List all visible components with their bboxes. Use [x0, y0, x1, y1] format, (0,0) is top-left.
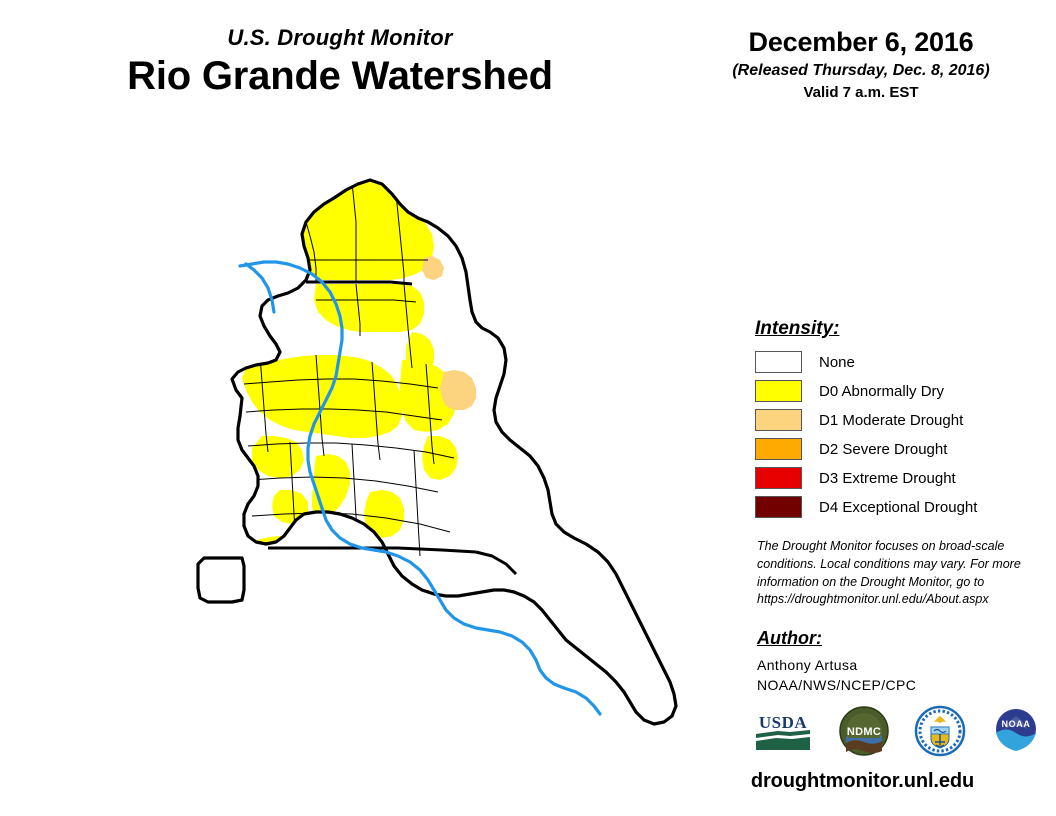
- legend-item-d2: D2 Severe Drought: [755, 436, 1035, 462]
- page-title: Rio Grande Watershed: [60, 54, 620, 99]
- svg-text:NDMC: NDMC: [847, 726, 881, 738]
- noaa-logo: NOAA: [990, 705, 1042, 757]
- valid-date: December 6, 2016: [690, 28, 1032, 58]
- legend-swatch-d3: [755, 467, 802, 489]
- legend-label-d0: D0 Abnormally Dry: [819, 383, 944, 400]
- legend-label-d2: D2 Severe Drought: [819, 441, 947, 458]
- legend-label-d4: D4 Exceptional Drought: [819, 499, 977, 516]
- legend-label-d3: D3 Extreme Drought: [819, 470, 956, 487]
- usda-logo: USDA: [752, 708, 814, 754]
- legend-swatch-d2: [755, 438, 802, 460]
- valid-time: Valid 7 a.m. EST: [690, 84, 1032, 102]
- map-svg: [120, 160, 680, 800]
- logo-row: USDA NDMC NOAA: [752, 702, 1042, 760]
- legend-title: Intensity:: [755, 318, 1035, 340]
- header-left: U.S. Drought Monitor Rio Grande Watershe…: [60, 26, 620, 99]
- release-date: (Released Thursday, Dec. 8, 2016): [690, 61, 1032, 80]
- footer-url[interactable]: droughtmonitor.unl.edu: [690, 770, 1035, 793]
- legend-swatch-d1: [755, 409, 802, 431]
- legend-label-d1: D1 Moderate Drought: [819, 412, 963, 429]
- legend-item-d1: D1 Moderate Drought: [755, 407, 1035, 433]
- author-name: Anthony Artusa: [757, 656, 1037, 676]
- header-right: December 6, 2016 (Released Thursday, Dec…: [690, 28, 1032, 102]
- legend-item-d3: D3 Extreme Drought: [755, 465, 1035, 491]
- legend-item-none: None: [755, 349, 1035, 375]
- svg-text:NOAA: NOAA: [1002, 719, 1031, 729]
- author-block: Author: Anthony Artusa NOAA/NWS/NCEP/CPC: [757, 628, 1037, 696]
- legend-swatch-d0: [755, 380, 802, 402]
- author-affiliation: NOAA/NWS/NCEP/CPC: [757, 676, 1037, 696]
- legend-label-none: None: [819, 354, 855, 371]
- subtitle: U.S. Drought Monitor: [60, 26, 620, 50]
- legend-item-d4: D4 Exceptional Drought: [755, 494, 1035, 520]
- drought-map: [120, 160, 680, 800]
- disclaimer-text: The Drought Monitor focuses on broad-sca…: [757, 538, 1025, 609]
- usdc-seal-logo: [914, 705, 966, 757]
- legend-item-d0: D0 Abnormally Dry: [755, 378, 1035, 404]
- legend-swatch-d4: [755, 496, 802, 518]
- svg-text:USDA: USDA: [759, 713, 808, 732]
- ndmc-logo: NDMC: [838, 705, 890, 757]
- legend: Intensity: None D0 Abnormally Dry D1 Mod…: [755, 318, 1035, 523]
- author-heading: Author:: [757, 628, 1037, 649]
- watershed-west-protrusion: [198, 558, 244, 602]
- legend-swatch-none: [755, 351, 802, 373]
